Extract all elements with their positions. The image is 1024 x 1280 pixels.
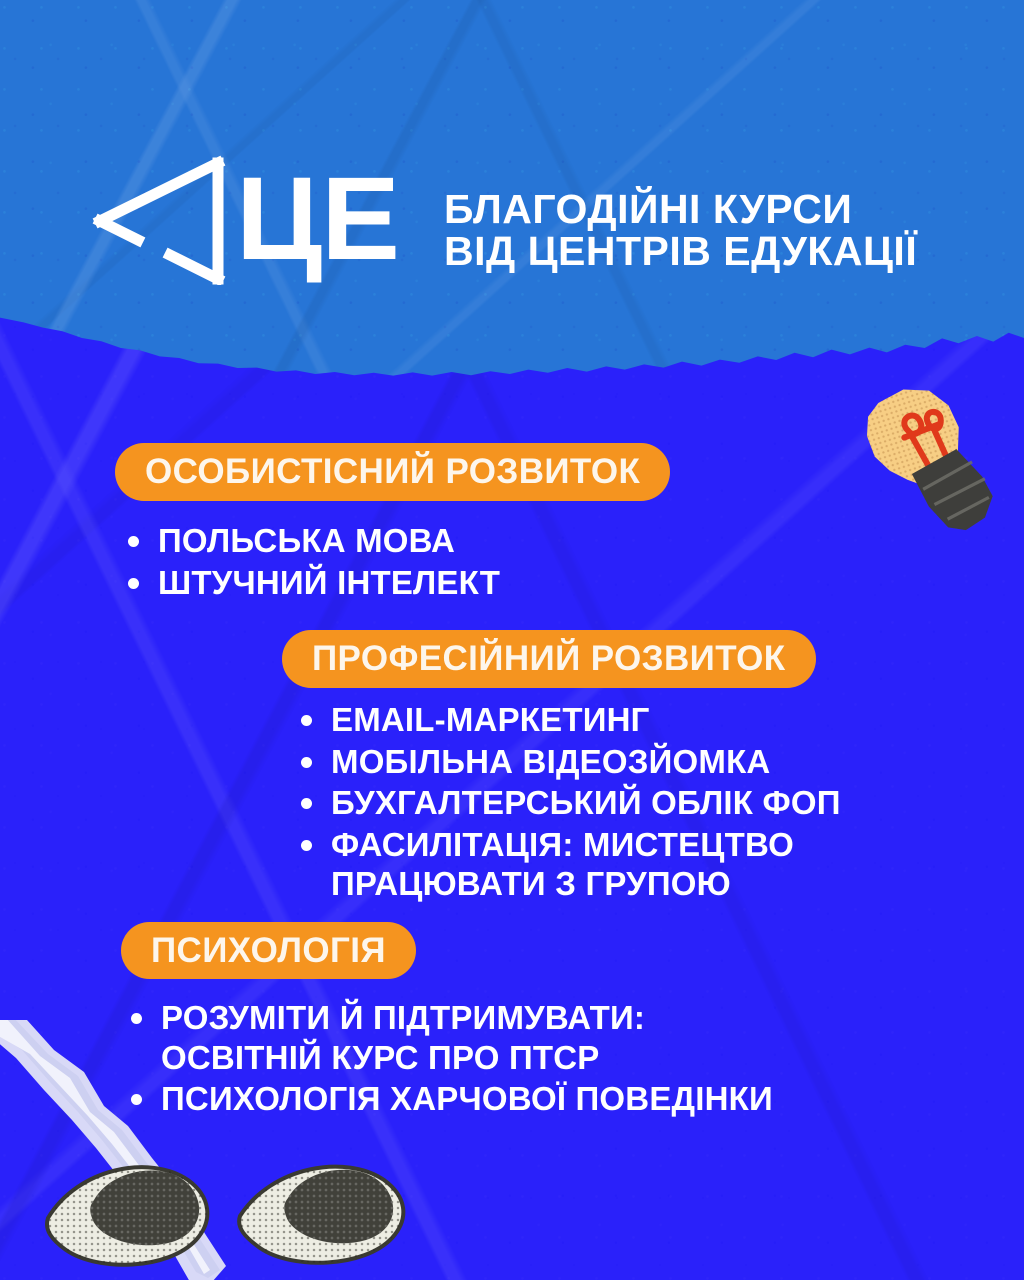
list-item-line-1: ПОЛЬСЬКА МОВА xyxy=(158,522,455,559)
list-item-line-1: ШТУЧНИЙ ІНТЕЛЕКТ xyxy=(158,564,500,601)
logo-wordmark: ЦЕ xyxy=(236,169,399,270)
list-item-line-1: БУХГАЛТЕРСЬКИЙ ОБЛІК ФОП xyxy=(331,784,841,821)
eye-icon-right xyxy=(239,1167,403,1263)
list-item-line-2: ПРАЦЮВАТИ З ГРУПОЮ xyxy=(331,864,841,904)
list-item[interactable]: БУХГАЛТЕРСЬКИЙ ОБЛІК ФОП xyxy=(298,783,841,823)
list-item-line-1: МОБІЛЬНА ВІДЕОЗЙОМКА xyxy=(331,743,770,780)
tagline-line-2: ВІД ЦЕНТРІВ ЕДУКАЦІЇ xyxy=(444,231,917,273)
poster-canvas: ЦЕ БЛАГОДІЙНІ КУРСИ ВІД ЦЕНТРІВ ЕДУКАЦІЇ xyxy=(0,0,1024,1280)
brand-lockup: ЦЕ xyxy=(92,155,399,285)
section-badge-psychology[interactable]: ПСИХОЛОГІЯ xyxy=(121,922,416,979)
list-item[interactable]: ШТУЧНИЙ ІНТЕЛЕКТ xyxy=(125,563,500,603)
triangle-play-logo-icon xyxy=(92,155,242,285)
section-badge-professional-development[interactable]: ПРОФЕСІЙНИЙ РОЗВИТОК xyxy=(282,630,816,688)
tagline-line-1: БЛАГОДІЙНІ КУРСИ xyxy=(444,189,917,231)
eye-icon-left xyxy=(47,1167,207,1265)
list-item[interactable]: ПОЛЬСЬКА МОВА xyxy=(125,521,500,561)
bottom-decoration-group xyxy=(0,1020,420,1280)
section-badge-personal-development[interactable]: ОСОБИСТІСНИЙ РОЗВИТОК xyxy=(115,443,670,501)
list-item-line-1: ФАСИЛІТАЦІЯ: МИСТЕЦТВО xyxy=(331,826,794,863)
list-item[interactable]: МОБІЛЬНА ВІДЕОЗЙОМКА xyxy=(298,742,841,782)
list-item-line-1: EMAIL-МАРКЕТИНГ xyxy=(331,701,650,738)
course-list-professional-development: EMAIL-МАРКЕТИНГ МОБІЛЬНА ВІДЕОЗЙОМКА БУХ… xyxy=(298,700,841,906)
lightbulb-icon xyxy=(826,361,1024,570)
list-item[interactable]: ФАСИЛІТАЦІЯ: МИСТЕЦТВО ПРАЦЮВАТИ З ГРУПО… xyxy=(298,825,841,904)
header-tagline: БЛАГОДІЙНІ КУРСИ ВІД ЦЕНТРІВ ЕДУКАЦІЇ xyxy=(444,189,917,273)
list-item[interactable]: EMAIL-МАРКЕТИНГ xyxy=(298,700,841,740)
course-list-personal-development: ПОЛЬСЬКА МОВА ШТУЧНИЙ ІНТЕЛЕКТ xyxy=(125,521,500,604)
